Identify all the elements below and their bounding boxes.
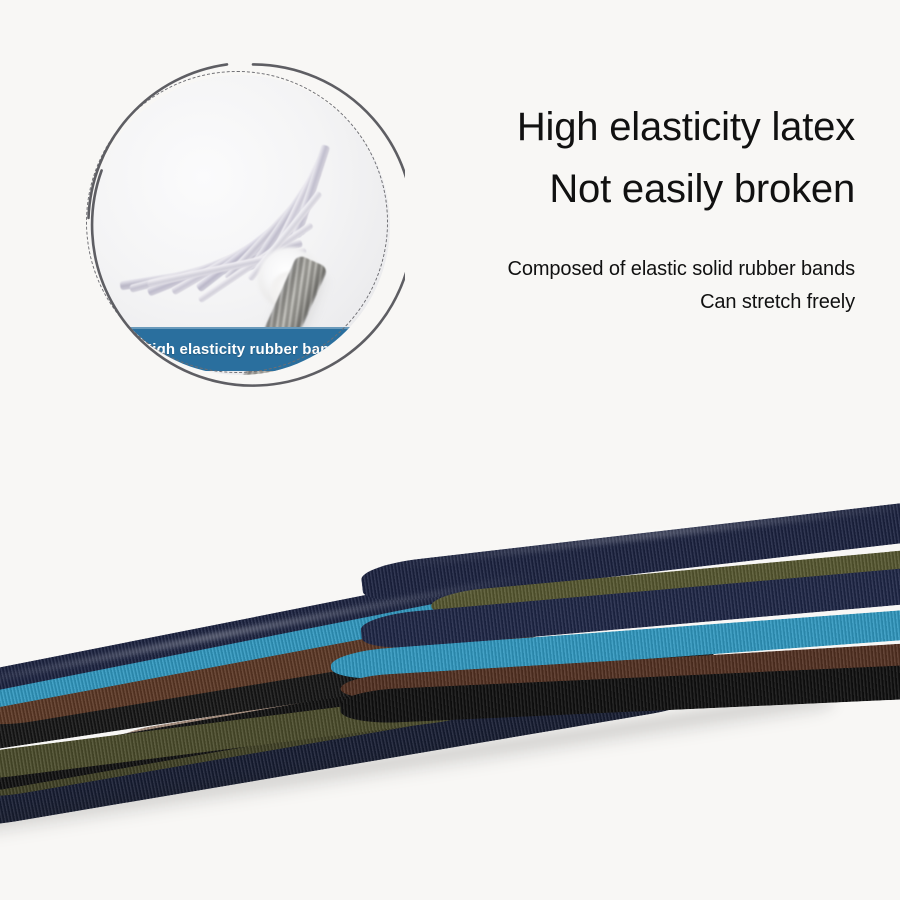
subtext-line-1: Composed of elastic solid rubber bands bbox=[335, 253, 855, 286]
headline-line-2: Not easily broken bbox=[335, 158, 855, 220]
subtext-line-2: Can stretch freely bbox=[335, 286, 855, 319]
headline: High elasticity latex Not easily broken bbox=[335, 96, 855, 220]
elastic-band-bundle-photo bbox=[0, 470, 900, 870]
inset-caption-banner: High elasticity rubber band bbox=[90, 327, 390, 371]
headline-line-1: High elasticity latex bbox=[335, 96, 855, 158]
product-feature-image: High elasticity rubber band High elastic… bbox=[0, 0, 900, 900]
subtext: Composed of elastic solid rubber bands C… bbox=[335, 253, 855, 319]
inset-caption-label: High elasticity rubber band bbox=[141, 341, 338, 358]
